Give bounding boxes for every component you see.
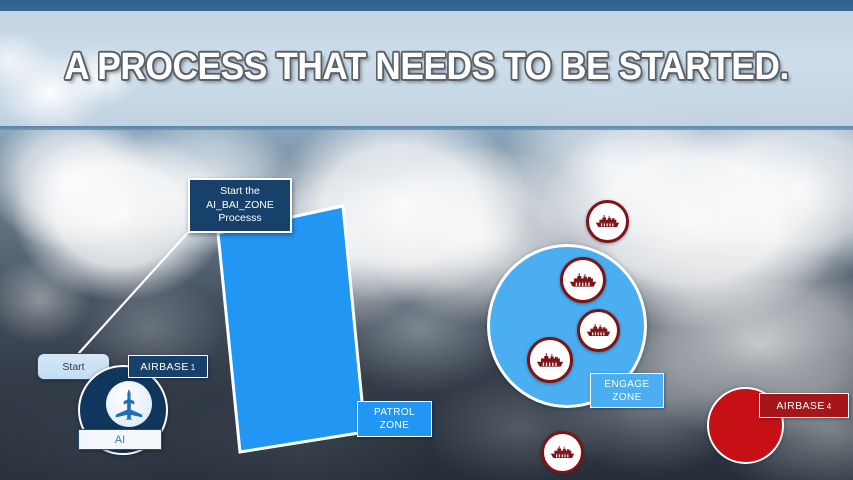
airbase-4-label-text: AIRBASE <box>776 400 824 412</box>
ship-marker[interactable] <box>586 200 629 243</box>
airbase-1-label: AIRBASE1 <box>128 355 208 378</box>
patrol-zone-label-line-2: ZONE <box>380 419 409 432</box>
callout-line-3: Processs <box>218 212 261 226</box>
engage-zone-label-line-1: ENGAGE <box>604 378 649 391</box>
warship-icon <box>586 323 611 338</box>
warship-icon <box>550 445 575 460</box>
patrol-zone-label: PATROL ZONE <box>357 401 432 437</box>
start-process-callout[interactable]: Start the AI_BAI_ZONE Processs <box>188 178 292 233</box>
engage-zone-label: ENGAGE ZONE <box>590 373 664 408</box>
patrol-zone-label-line-1: PATROL <box>374 406 415 419</box>
ship-marker[interactable] <box>527 337 573 383</box>
ship-marker[interactable] <box>577 309 620 352</box>
warship-icon <box>595 214 620 229</box>
ship-marker[interactable] <box>541 431 584 474</box>
warship-icon <box>536 352 564 369</box>
airbase-1-unit-label: AI <box>78 429 162 450</box>
airbase-4-label: AIRBASE4 <box>759 393 849 418</box>
engage-zone-label-line-2: ZONE <box>612 391 641 404</box>
callout-line-2: AI_BAI_ZONE <box>206 199 274 213</box>
ship-marker[interactable] <box>560 257 606 303</box>
airbase-4-index: 4 <box>827 402 832 411</box>
warship-icon <box>569 272 597 289</box>
callout-line-1: Start the <box>220 185 260 199</box>
fighter-jet-icon <box>114 388 144 420</box>
airbase-1-index: 1 <box>191 363 196 372</box>
airbase-1-label-text: AIRBASE <box>140 361 188 373</box>
presentation-slide: A PROCESS THAT NEEDS TO BE STARTED. Star… <box>0 0 853 480</box>
aircraft-icon-disc <box>106 381 152 427</box>
